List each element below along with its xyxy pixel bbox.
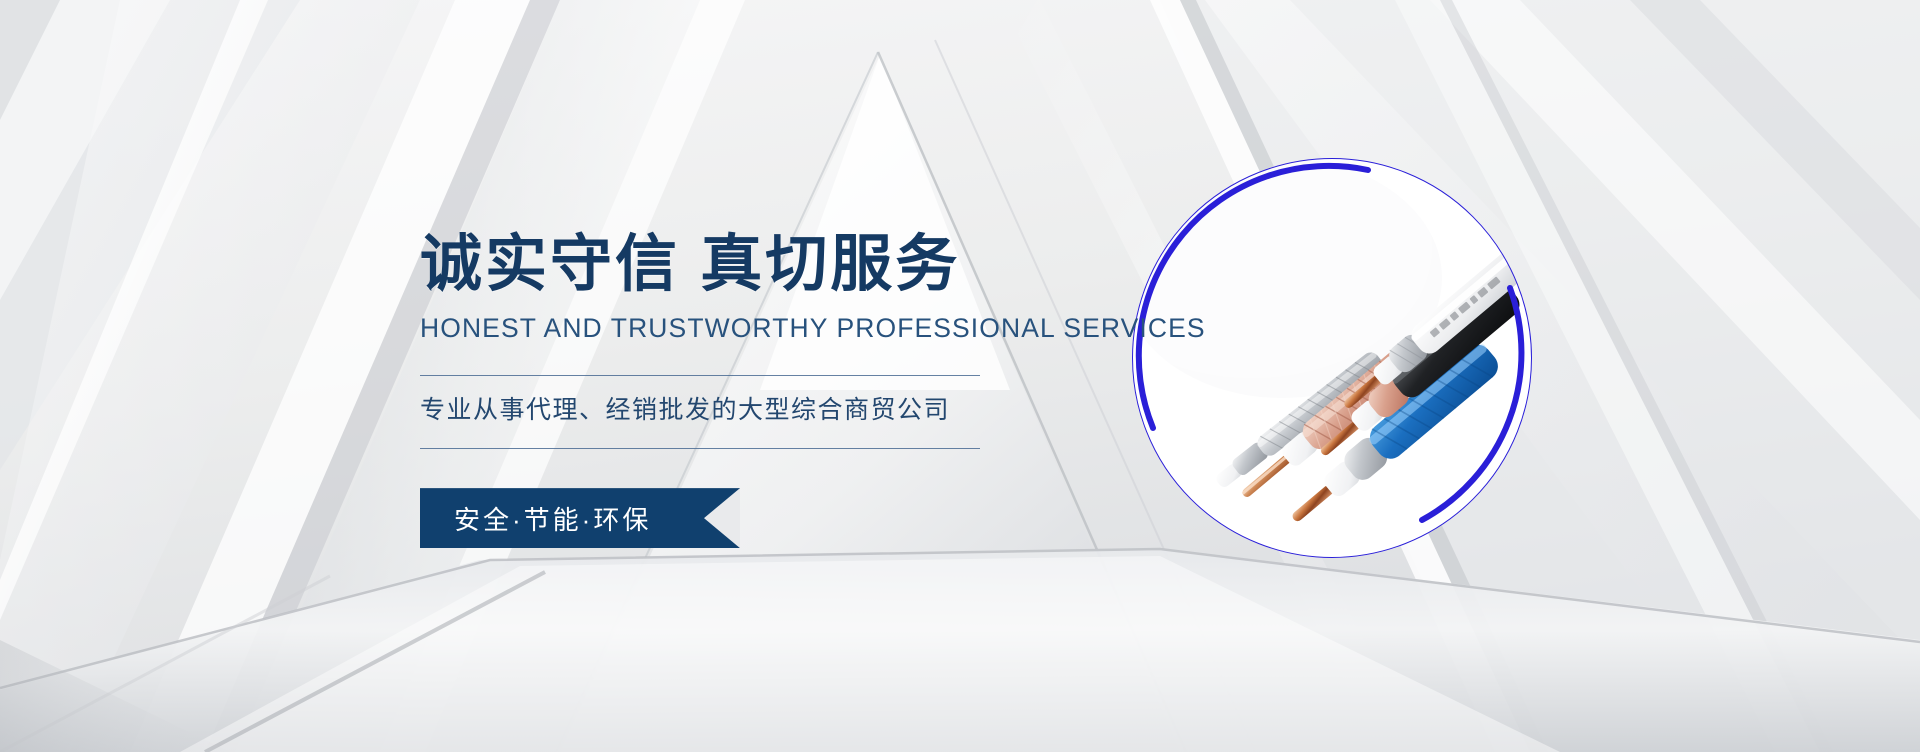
divider-top xyxy=(420,375,980,376)
feature-ribbon: 安全·节能·环保 xyxy=(420,488,740,548)
product-showcase xyxy=(1122,148,1542,568)
banner-description: 专业从事代理、经销批发的大型综合商贸公司 xyxy=(420,390,1060,426)
divider-bottom xyxy=(420,448,980,449)
hero-banner: 诚实守信 真切服务 HONEST AND TRUSTWORTHY PROFESS… xyxy=(0,0,1920,752)
banner-content: 诚实守信 真切服务 HONEST AND TRUSTWORTHY PROFESS… xyxy=(420,232,1060,548)
ribbon-label: 安全·节能·环保 xyxy=(420,488,740,548)
page-title: 诚实守信 真切服务 xyxy=(420,232,1060,297)
banner-subtitle-english: HONEST AND TRUSTWORTHY PROFESSIONAL SERV… xyxy=(420,313,1060,344)
product-ring-accent-arc xyxy=(1122,148,1542,568)
